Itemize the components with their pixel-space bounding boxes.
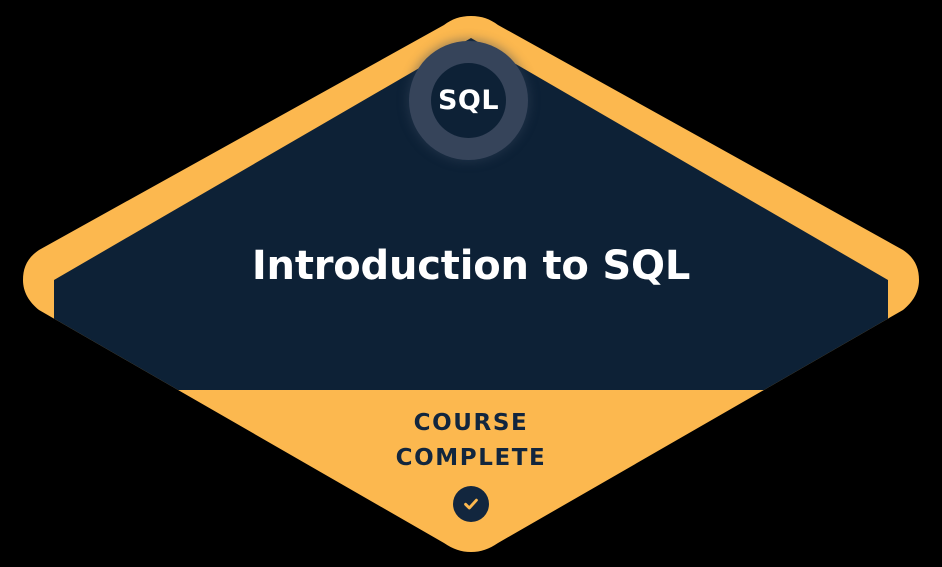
sql-emblem-label: SQL [438, 87, 499, 114]
course-title: Introduction to SQL [0, 243, 942, 289]
sql-ring-emblem: SQL [409, 41, 528, 160]
course-completion-badge: SQL Introduction to SQL COURSE COMPLETE [0, 0, 942, 567]
course-status-block: COURSE COMPLETE [0, 406, 942, 522]
status-line-complete: COMPLETE [0, 441, 942, 476]
status-line-course: COURSE [0, 406, 942, 441]
check-circle-icon [453, 486, 489, 522]
sql-emblem-center: SQL [431, 63, 506, 138]
